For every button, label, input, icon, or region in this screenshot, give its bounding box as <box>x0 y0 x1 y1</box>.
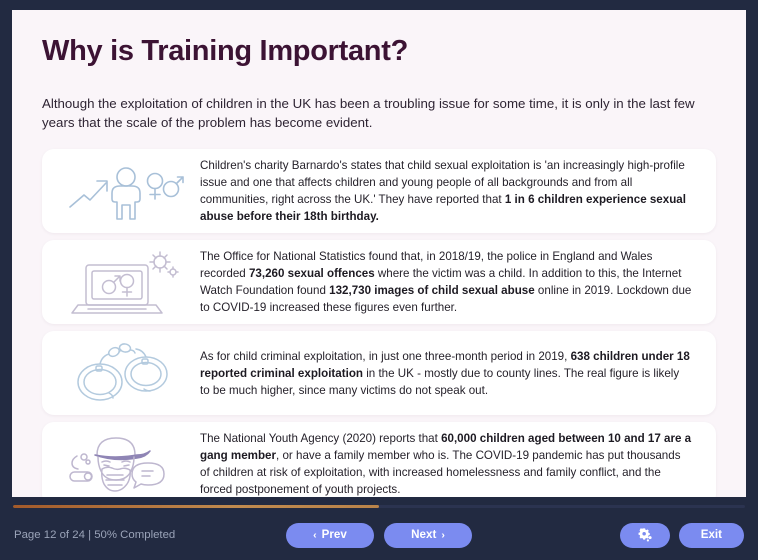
fact-card: The National Youth Agency (2020) reports… <box>42 422 716 497</box>
gear-icon <box>637 528 653 542</box>
fact-card: Children's charity Barnardo's states tha… <box>42 149 716 233</box>
prev-button-label: Prev <box>322 529 347 541</box>
next-button-label: Next <box>411 529 436 541</box>
exit-button[interactable]: Exit <box>679 523 744 548</box>
fact-card: The Office for National Statistics found… <box>42 240 716 324</box>
fact-card: As for child criminal exploitation, in j… <box>42 331 716 415</box>
fact-card-text: Children's charity Barnardo's states tha… <box>200 157 702 225</box>
masked-youth-speech-bubble-icon <box>48 428 200 497</box>
laptop-gender-virus-icon <box>48 246 200 318</box>
page-status-label: Page 12 of 24 | 50% Completed <box>14 529 175 541</box>
course-progress-fill <box>13 505 379 508</box>
fact-card-text: The Office for National Statistics found… <box>200 248 702 316</box>
slide-intro-text: Although the exploitation of children in… <box>42 94 716 133</box>
chevron-right-icon: › <box>441 530 445 541</box>
fact-card-text: The National Youth Agency (2020) reports… <box>200 430 702 497</box>
page-title: Why is Training Important? <box>42 36 716 68</box>
player-footer: Page 12 of 24 | 50% Completed ‹ Prev Nex… <box>0 510 758 560</box>
fact-card-list: Children's charity Barnardo's states tha… <box>42 149 716 497</box>
course-progress-bar <box>13 505 745 508</box>
settings-button[interactable] <box>620 523 670 548</box>
person-growth-gender-icon <box>48 155 200 227</box>
exit-button-label: Exit <box>701 529 722 541</box>
footer-actions: Exit <box>620 523 744 548</box>
next-button[interactable]: Next › <box>384 523 472 548</box>
slide-canvas: Why is Training Important? Although the … <box>12 10 746 497</box>
prev-button[interactable]: ‹ Prev <box>286 523 374 548</box>
slide-content: Why is Training Important? Although the … <box>12 10 746 497</box>
chevron-left-icon: ‹ <box>313 530 317 541</box>
fact-card-text: As for child criminal exploitation, in j… <box>200 348 702 399</box>
course-player: Why is Training Important? Although the … <box>0 0 758 560</box>
handcuffs-icon <box>48 337 200 409</box>
